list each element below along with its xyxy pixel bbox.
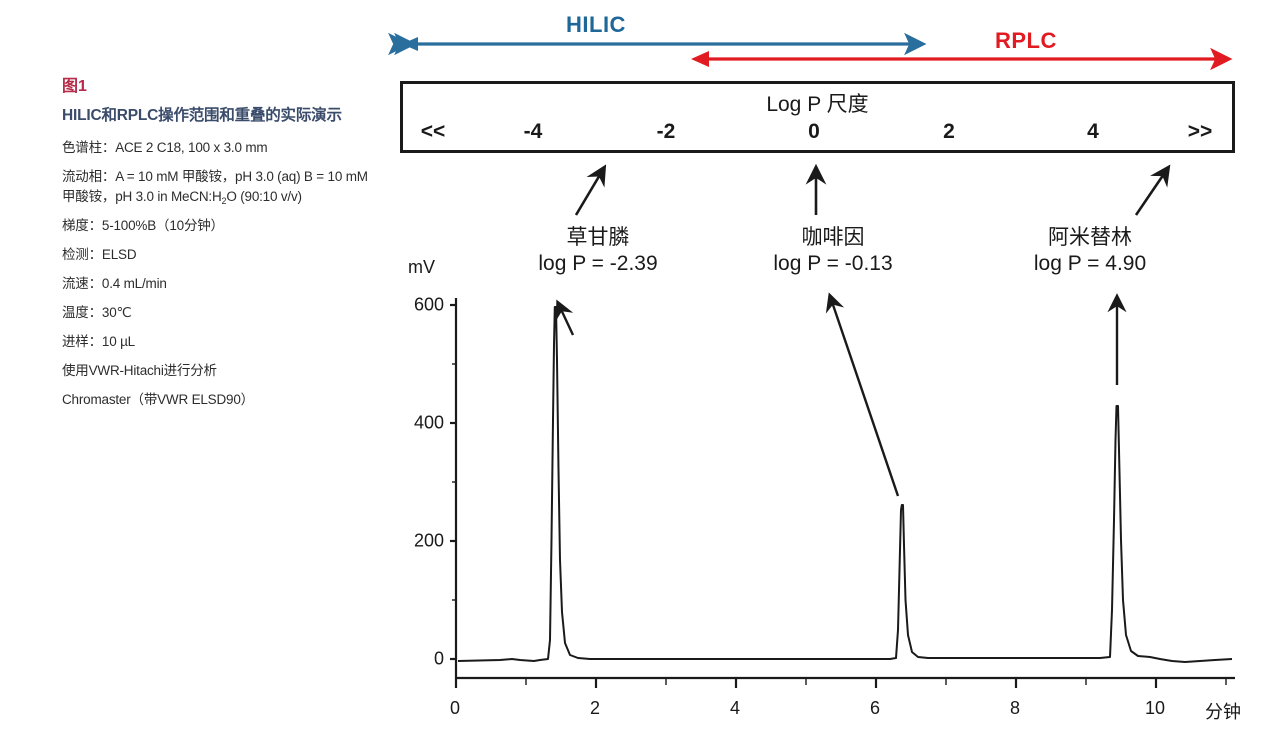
figure-graphics — [0, 0, 1276, 740]
annotation-arrow-glyphosate — [576, 168, 604, 215]
rplc-range-arrow — [691, 51, 1228, 67]
annotation-arrow-amitriptyline — [1136, 168, 1168, 215]
figure-panel: HILIC RPLC Log P 尺度 << -4 -2 0 2 4 >> 草甘… — [0, 0, 1276, 740]
peak-pointer-caffeine — [830, 296, 898, 496]
peak-pointer-glyphosate — [558, 303, 573, 335]
hilic-range-arrow — [402, 37, 922, 51]
